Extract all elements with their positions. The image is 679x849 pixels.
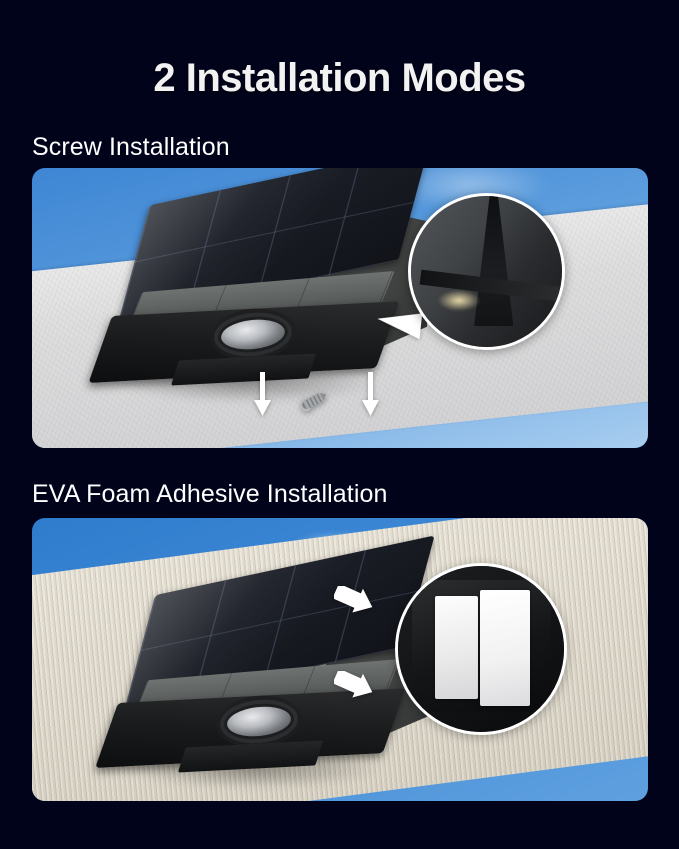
eva-foam-pad [480,590,530,706]
solar-security-light [106,190,426,386]
photo-card-screw-installation [32,168,648,448]
light-glow [438,290,480,311]
callout-foam-pads-closeup [395,563,567,735]
page-title: 2 Installation Modes [0,56,679,101]
arrow-down-icon [362,372,379,416]
solar-security-light [112,580,432,772]
section-label-screw-installation: Screw Installation [32,133,230,162]
arrow-diagonal-icon [334,586,380,626]
arrow-down-icon [254,372,271,416]
section-label-eva-foam-adhesive-installation: EVA Foam Adhesive Installation [32,480,388,509]
photo-card-eva-foam-adhesive-installation [32,518,648,801]
arrow-diagonal-icon [334,671,380,711]
callout-bracket-closeup [408,193,565,350]
eva-foam-pad [435,596,478,699]
